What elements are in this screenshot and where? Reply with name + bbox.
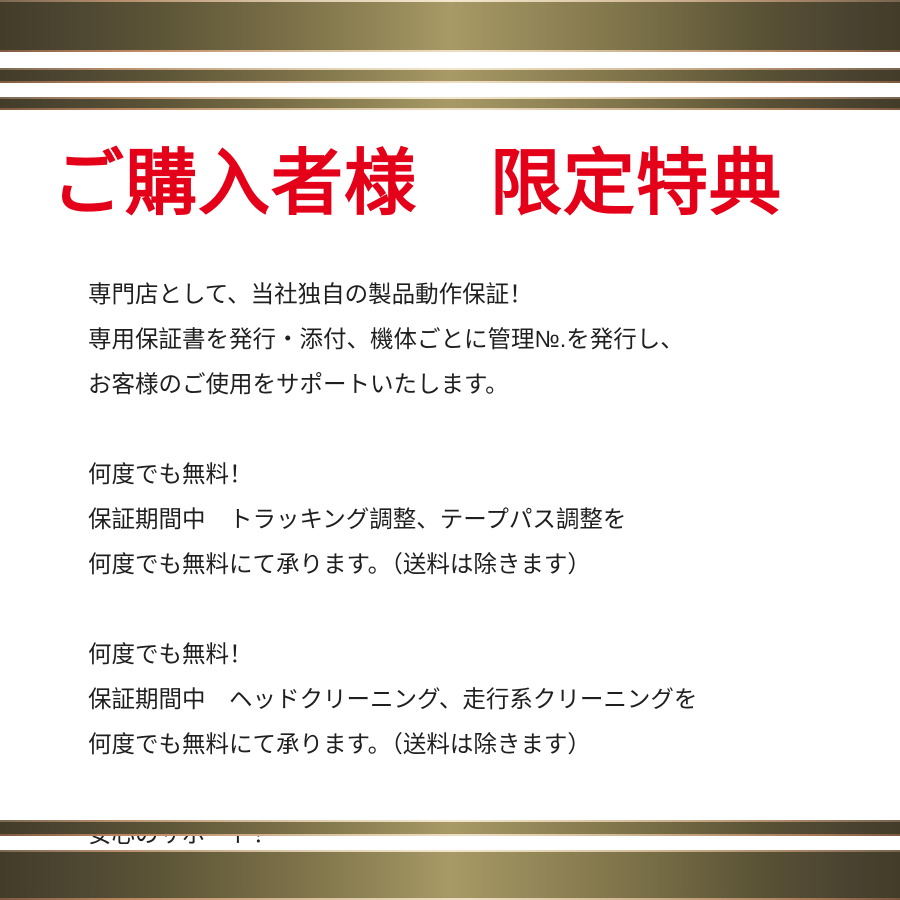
paragraph-warranty-line-1: 専門店として、当社独自の製品動作保証！ [88,272,848,317]
decorative-gold-band-top-thin [0,97,900,110]
decorative-gold-band-top-medium [0,68,900,83]
promo-banner: ご購入者様 限定特典 専門店として、当社独自の製品動作保証！ 専用保証書を発行・… [0,0,900,900]
body-copy: 専門店として、当社独自の製品動作保証！ 専用保証書を発行・添付、機体ごとに管理№… [88,272,848,900]
paragraph-cleaning-free-line-2: 保証期間中 ヘッドクリーニング、走行系クリーニングを [88,677,848,722]
page-title: ご購入者様 限定特典 [52,141,862,227]
decorative-gold-band-bottom-thin [0,820,900,836]
paragraph-cleaning-free-line-1: 何度でも無料！ [88,632,848,677]
paragraph-cleaning-free-line-3: 何度でも無料にて承ります。（送料は除きます） [88,722,848,767]
paragraph-warranty-line-3: お客様のご使用をサポートいたします。 [88,362,848,407]
decorative-gold-band-bottom-thick [0,850,900,900]
paragraph-tracking-free: 何度でも無料！ 保証期間中 トラッキング調整、テープパス調整を 何度でも無料にて… [88,452,848,587]
paragraph-cleaning-free: 何度でも無料！ 保証期間中 ヘッドクリーニング、走行系クリーニングを 何度でも無… [88,632,848,767]
paragraph-warranty: 専門店として、当社独自の製品動作保証！ 専用保証書を発行・添付、機体ごとに管理№… [88,272,848,407]
paragraph-tracking-free-line-3: 何度でも無料にて承ります。（送料は除きます） [88,542,848,587]
paragraph-tracking-free-line-2: 保証期間中 トラッキング調整、テープパス調整を [88,497,848,542]
paragraph-tracking-free-line-1: 何度でも無料！ [88,452,848,497]
paragraph-warranty-line-2: 専用保証書を発行・添付、機体ごとに管理№.を発行し、 [88,317,848,362]
decorative-gold-band-top-thick [0,0,900,52]
